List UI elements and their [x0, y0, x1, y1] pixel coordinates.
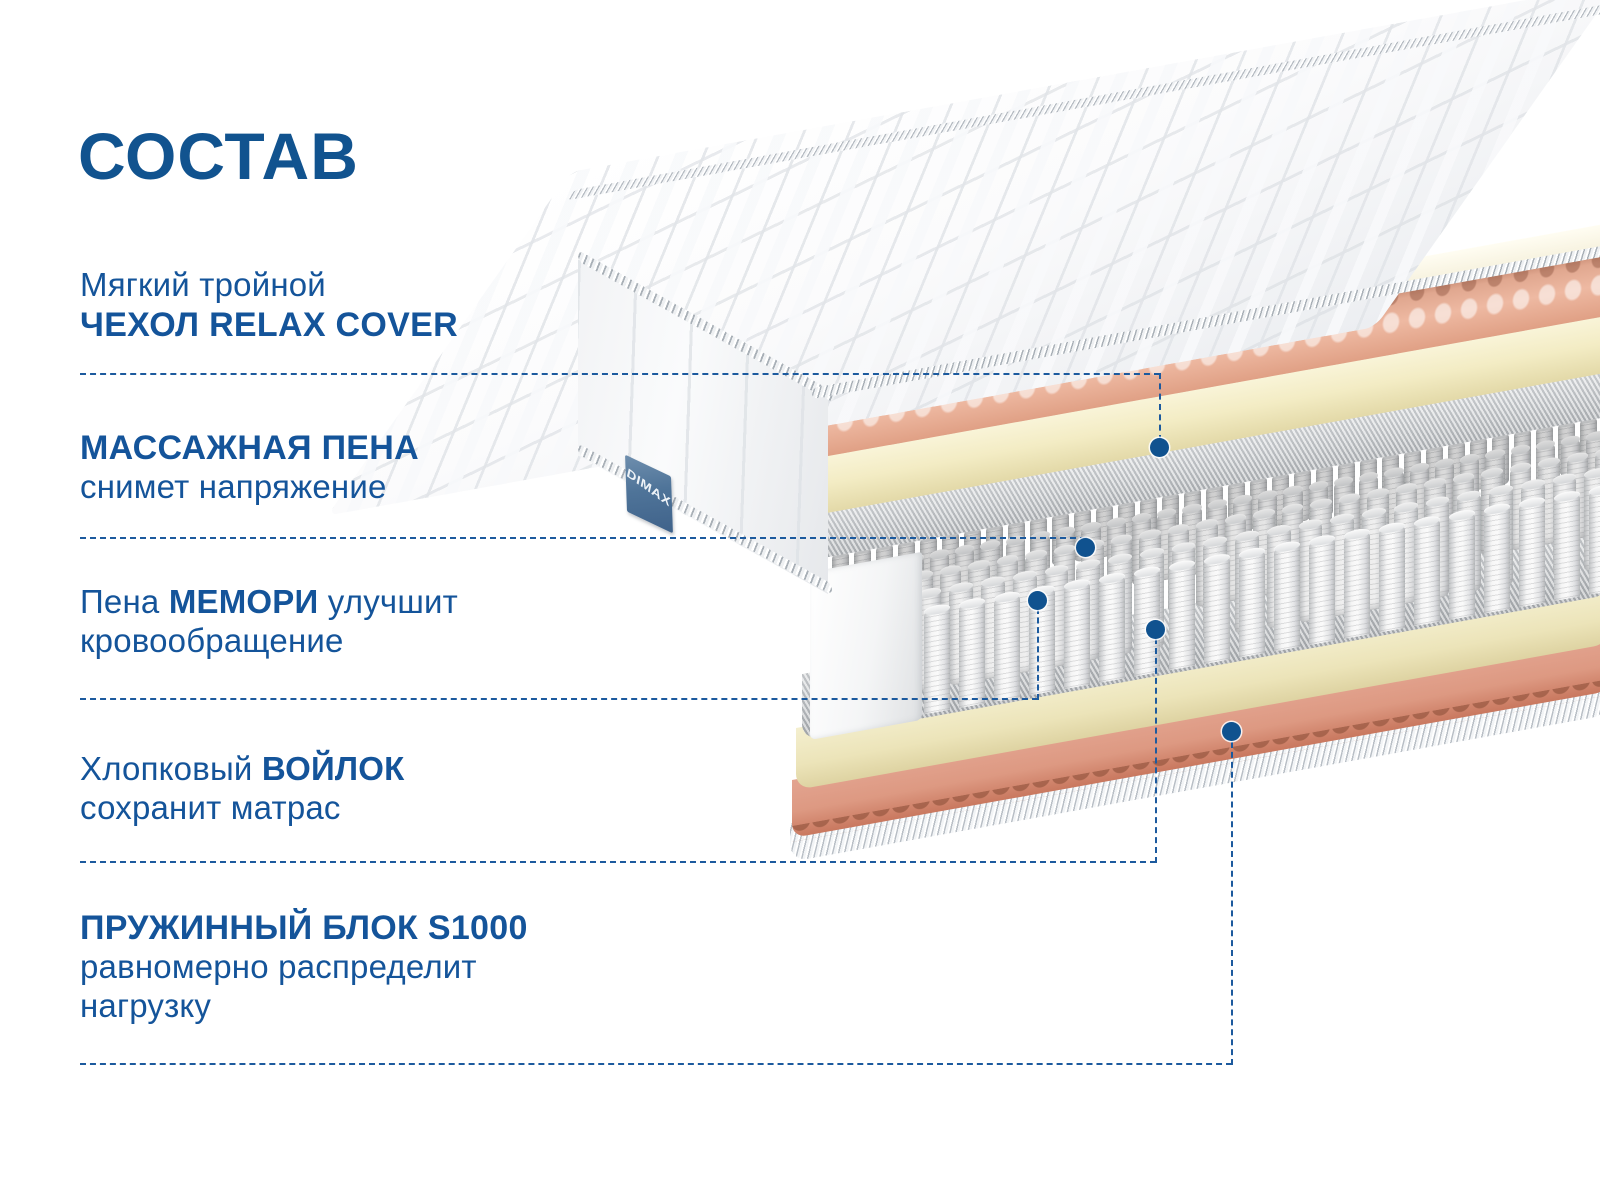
page-title: СОСТАВ — [78, 123, 359, 189]
spring-coil — [1379, 525, 1405, 642]
label-massage-foam-line2: снимет напряжение — [80, 468, 419, 507]
label-spring-block: ПРУЖИННЫЙ БЛОК S1000 равномерно распреде… — [80, 908, 528, 1026]
spring-coil — [1414, 519, 1440, 636]
spring-coil — [924, 607, 950, 724]
callout-dot-cotton-felt — [1146, 620, 1165, 639]
mattress-cutaway-illustration: DIMAX — [560, 250, 1600, 990]
label-spring-block-line2: равномерно распределит — [80, 948, 528, 987]
label-cotton-felt-keyword: ВОЙЛОК — [262, 750, 405, 787]
spring-coil — [1484, 506, 1510, 623]
label-relax-cover-line1: Мягкий тройной — [80, 266, 458, 305]
callout-dot-massage-foam — [1076, 538, 1095, 557]
label-memory-foam-line1: Пена МЕМОРИ улучшит — [80, 583, 458, 622]
label-relax-cover: Мягкий тройной ЧЕХОЛ RELAX COVER — [80, 266, 458, 345]
label-relax-cover-line2: ЧЕХОЛ RELAX COVER — [80, 305, 458, 345]
callout-dot-relax-cover — [1150, 438, 1169, 457]
label-memory-foam-line1-suffix: улучшит — [318, 583, 458, 620]
callout-dot-memory-foam — [1028, 591, 1047, 610]
spring-coil — [1239, 550, 1265, 667]
label-cotton-felt: Хлопковый ВОЙЛОК сохранит матрас — [80, 750, 404, 828]
spring-coil — [1519, 500, 1545, 617]
label-cotton-felt-line2: сохранит матрас — [80, 789, 404, 828]
spring-coil — [1274, 544, 1300, 661]
spring-coil — [1204, 556, 1230, 673]
spring-coil — [1554, 493, 1580, 610]
spring-coil — [1064, 582, 1090, 699]
label-memory-foam: Пена МЕМОРИ улучшит кровообращение — [80, 583, 458, 661]
infographic-page: DIMAX СОСТАВ Мягкий тройной ЧЕХОЛ RELAX … — [0, 0, 1600, 1200]
spring-coil — [1099, 575, 1125, 692]
label-spring-block-line1: ПРУЖИННЫЙ БЛОК S1000 — [80, 908, 528, 948]
label-cotton-felt-line1: Хлопковый ВОЙЛОК — [80, 750, 404, 789]
spring-coil — [1589, 487, 1600, 604]
spring-coil — [994, 594, 1020, 711]
label-massage-foam-line1: МАССАЖНАЯ ПЕНА — [80, 428, 419, 468]
callout-dot-spring-block — [1222, 722, 1241, 741]
spring-coil — [1449, 512, 1475, 629]
label-cotton-felt-line1-prefix: Хлопковый — [80, 750, 262, 787]
label-massage-foam: МАССАЖНАЯ ПЕНА снимет напряжение — [80, 428, 419, 507]
label-memory-foam-line2: кровообращение — [80, 622, 458, 661]
spring-coil — [1344, 531, 1370, 648]
label-spring-block-line3: нагрузку — [80, 987, 528, 1026]
label-memory-foam-line1-prefix: Пена — [80, 583, 169, 620]
label-memory-foam-keyword: МЕМОРИ — [169, 583, 319, 620]
spring-coil — [1309, 538, 1335, 655]
spring-coil — [1169, 563, 1195, 680]
